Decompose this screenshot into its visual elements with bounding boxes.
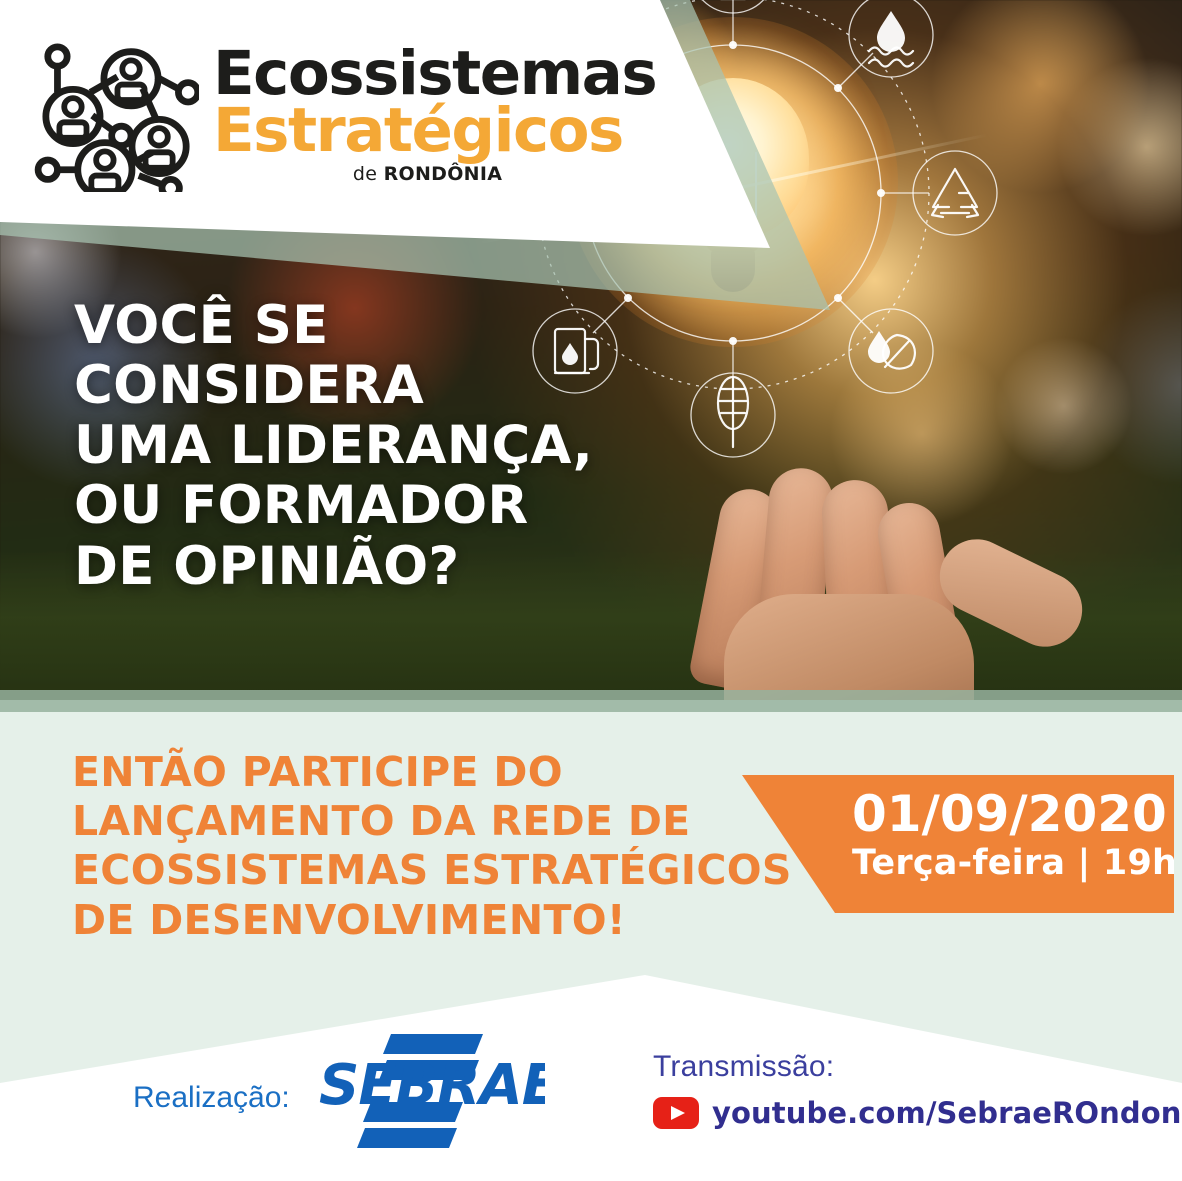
hand-illustration (686, 406, 1116, 700)
brand-line-ecossistemas: Ecossistemas (213, 46, 656, 102)
headline-line-5: DE OPINIÃO? (74, 537, 714, 597)
event-date: 01/09/2020 (852, 789, 1177, 840)
cta-line-3: ECOSSISTEMAS ESTRATÉGICOS (72, 846, 772, 895)
youtube-row[interactable]: youtube.com/SebraeROndonia (653, 1096, 1182, 1130)
cta-line-1: ENTÃO PARTICIPE DO (72, 748, 772, 797)
svg-text:SEBRAE: SEBRAE (319, 1053, 545, 1118)
palm (724, 594, 974, 700)
brand-line-estrategicos: Estratégicos (213, 102, 656, 160)
youtube-channel-url[interactable]: youtube.com/SebraeROndonia (712, 1096, 1182, 1130)
section-divider-band (0, 690, 1182, 712)
water-drop-waves-icon (849, 0, 933, 77)
headline-line-3: UMA LIDERANÇA, (74, 416, 714, 476)
promo-poster: Ecossistemas Estratégicos de RONDÔNIA VO… (0, 0, 1182, 1181)
brand-place: RONDÔNIA (384, 163, 503, 185)
headline-line-1: VOCÊ SE (74, 296, 714, 356)
logo-banner: Ecossistemas Estratégicos de RONDÔNIA (0, 0, 770, 250)
brand-line-rondonia: de RONDÔNIA (213, 163, 656, 185)
headline-line-4: OU FORMADOR (74, 476, 714, 536)
sebrae-logo: SEBRAE (305, 1028, 545, 1153)
leaf-drop-icon (849, 309, 933, 393)
transmissao-label: Transmissão: (653, 1050, 1182, 1084)
cta-line-4: DE DESENVOLVIMENTO! (72, 896, 772, 945)
people-network-icon (34, 42, 199, 192)
realizacao-label: Realização: (133, 1081, 290, 1115)
event-date-content: 01/09/2020 Terça-feira | 19h (852, 789, 1177, 883)
brand-wordmark: Ecossistemas Estratégicos de RONDÔNIA (213, 42, 656, 185)
event-weekday-time: Terça-feira | 19h (852, 844, 1177, 883)
cta-line-2: LANÇAMENTO DA REDE DE (72, 797, 772, 846)
youtube-icon[interactable] (653, 1097, 699, 1129)
headline: VOCÊ SE CONSIDERA UMA LIDERANÇA, OU FORM… (74, 296, 714, 597)
broadcast-info: Transmissão: youtube.com/SebraeROndonia (653, 1050, 1182, 1130)
cta-text: ENTÃO PARTICIPE DO LANÇAMENTO DA REDE DE… (72, 748, 772, 945)
headline-line-2: CONSIDERA (74, 356, 714, 416)
brand-logo: Ecossistemas Estratégicos de RONDÔNIA (34, 42, 656, 192)
brand-de-prefix: de (353, 163, 384, 185)
